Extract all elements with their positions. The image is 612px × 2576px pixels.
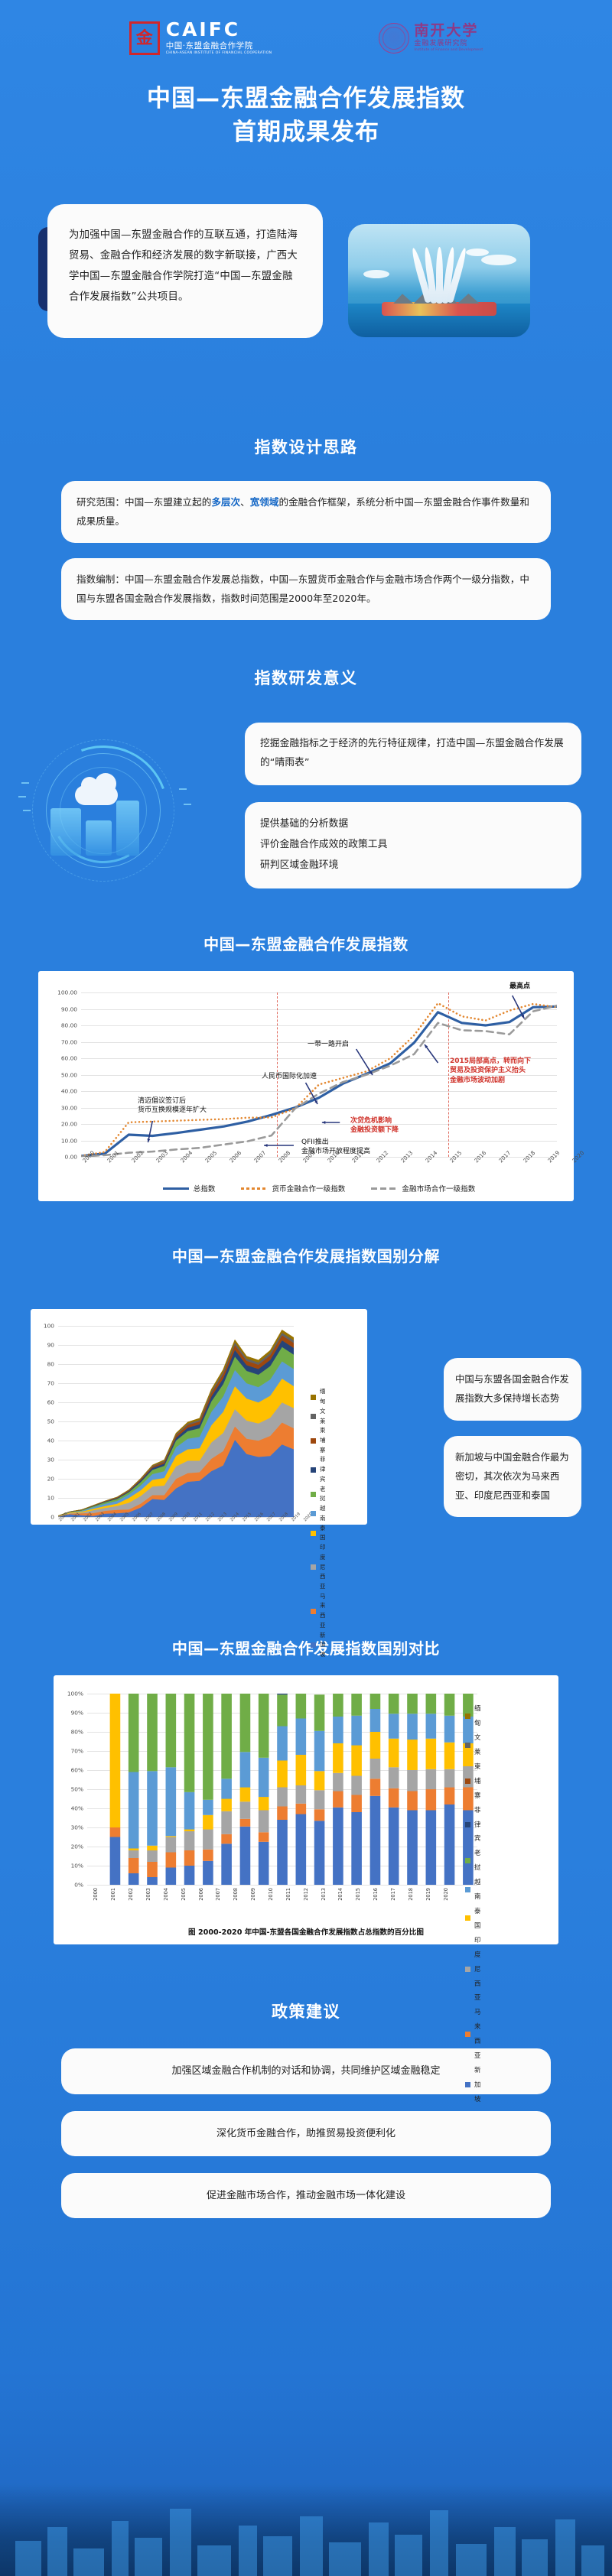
nankai-cn-name: 南开大学	[414, 23, 483, 39]
y-axis-tick: 50.00	[61, 1071, 81, 1078]
y-axis-tick: 10	[47, 1495, 58, 1502]
legend-swatch	[311, 1511, 316, 1516]
legend-swatch	[311, 1492, 316, 1497]
x-axis-tick: 2020	[443, 1888, 449, 1901]
y-axis-tick: 0	[50, 1514, 58, 1521]
x-axis-tick: 2006	[198, 1888, 204, 1901]
footer-skyline	[0, 2484, 612, 2576]
y-axis-tick: 0%	[74, 1882, 87, 1889]
design-card-compilation: 指数编制：中国—东盟金融合作发展总指数，中国—东盟货币金融合作与金融市场合作两个…	[61, 558, 551, 620]
chart-annotation: 最高点	[509, 982, 530, 991]
legend-item: 缅甸	[311, 1387, 325, 1406]
caifc-en-name: CHINA-ASEAN INSTITUTE OF FINANCIAL COOPE…	[166, 52, 272, 56]
y-axis-tick: 70	[47, 1380, 58, 1387]
x-axis-tick: 2015	[355, 1888, 361, 1901]
y-axis-tick: 40.00	[61, 1088, 81, 1095]
y-axis-tick: 100.00	[57, 989, 81, 996]
y-axis-tick: 70.00	[61, 1038, 81, 1045]
legend-item: 新加坡	[311, 1631, 325, 1660]
legend-item-market: 金融市场合作一级指数	[371, 1183, 475, 1194]
x-axis-tick: 2013	[321, 1888, 327, 1901]
y-axis-tick: 30	[47, 1457, 58, 1463]
y-axis-tick: 0.00	[65, 1154, 81, 1161]
y-axis-tick: 10.00	[61, 1137, 81, 1144]
design-card-scope: 研究范围：中国—东盟建立起的多层次、宽领域的金融合作框架，系统分析中国—东盟金融…	[61, 481, 551, 543]
legend-item: 柬埔寨	[465, 1759, 480, 1803]
bar-chart-svg	[87, 1694, 477, 1885]
legend-item: 马来西亚	[311, 1592, 325, 1631]
legend-swatch	[465, 1887, 470, 1892]
x-axis-tick: 2008	[233, 1888, 239, 1901]
legend-label: 菲律宾	[320, 1455, 325, 1484]
legend-swatch	[311, 1414, 316, 1419]
legend-swatch	[465, 1779, 470, 1784]
infographic-page: 金 CAIFC 中国·东盟金融合作学院 CHINA-ASEAN INSTITUT…	[0, 0, 612, 2576]
y-axis-tick: 60	[47, 1399, 58, 1406]
meaning-use-item: 提供基础的分析数据	[260, 814, 566, 835]
legend-item: 老挝	[465, 1846, 480, 1875]
legend-label: 文莱	[320, 1407, 325, 1426]
y-axis-tick: 30%	[71, 1824, 87, 1831]
x-axis-tick: 2019	[425, 1888, 431, 1901]
legend-label: 越南	[474, 1875, 480, 1904]
legend-item: 泰国	[465, 1904, 480, 1933]
scope-mid: 、	[240, 496, 250, 508]
y-axis-tick: 100%	[67, 1691, 87, 1697]
legend-item: 菲律宾	[311, 1455, 325, 1484]
legend-item: 老挝	[311, 1485, 325, 1504]
policy-section: 政策建议 加强区域金融合作机制的对话和协调，共同维护区域金融稳定 深化货币金融合…	[0, 1999, 612, 2363]
legend-swatch	[465, 2032, 470, 2037]
meaning-card-uses: 提供基础的分析数据 评价金融合作成效的政策工具 研判区域金融环境	[245, 802, 581, 888]
title-line-1: 中国—东盟金融合作发展指数	[0, 82, 612, 115]
legend-label: 马来西亚	[320, 1592, 325, 1631]
legend-label: 马来西亚	[474, 2005, 480, 2063]
meaning-section-title: 指数研发意义	[0, 666, 612, 689]
nankai-seal-icon	[379, 23, 409, 54]
y-axis-tick: 20%	[71, 1843, 87, 1850]
cloud-icon	[75, 785, 118, 805]
page-title: 中国—东盟金融合作发展指数 首期成果发布	[0, 82, 612, 149]
nankai-logo: 南开大学 金融发展研究院 Institute of Finance and De…	[379, 23, 483, 54]
legend-swatch-solid	[163, 1187, 189, 1190]
y-axis-tick: 90	[47, 1342, 58, 1349]
y-axis-tick: 50	[47, 1418, 58, 1425]
legend-label: 越南	[320, 1504, 325, 1523]
x-axis-tick: 2020	[571, 1149, 585, 1164]
legend-label: 缅甸	[474, 1701, 480, 1730]
legend-label: 泰国	[474, 1904, 480, 1933]
title-line-2: 首期成果发布	[0, 115, 612, 149]
legend-item: 新加坡	[465, 2063, 480, 2107]
meaning-card-barometer: 挖掘金融指标之于经济的先行特征规律，打造中国—东盟金融合作发展的“晴雨表”	[245, 723, 581, 785]
legend-label: 老挝	[320, 1485, 325, 1504]
y-axis-tick: 40	[47, 1437, 58, 1444]
x-axis-tick: 2018	[408, 1888, 414, 1901]
legend-label: 金融市场合作一级指数	[402, 1183, 475, 1194]
convention-center-icon	[416, 244, 462, 304]
legend-swatch	[311, 1531, 316, 1536]
bar-chart-legend: 缅甸文莱柬埔寨菲律宾老挝越南泰国印度尼西亚马来西亚新加坡	[465, 1701, 480, 2106]
legend-item: 柬埔寨	[311, 1426, 325, 1455]
meaning-card-list: 挖掘金融指标之于经济的先行特征规律，打造中国—东盟金融合作发展的“晴雨表” 提供…	[245, 723, 581, 888]
design-section-title: 指数设计思路	[0, 435, 612, 458]
scope-prefix: 研究范围：中国—东盟建立起的	[76, 496, 211, 508]
line-chart-section: 中国—东盟金融合作发展指数 0.0010.0020.0030.0040.0050…	[0, 932, 612, 1201]
design-section: 指数设计思路 研究范围：中国—东盟建立起的多层次、宽领域的金融合作框架，系统分析…	[0, 435, 612, 620]
legend-swatch	[311, 1395, 316, 1400]
scope-hl-2: 宽领域	[250, 496, 279, 508]
nankai-logo-text: 南开大学 金融发展研究院 Institute of Finance and De…	[414, 23, 483, 53]
gridline	[87, 1885, 477, 1886]
legend-label: 文莱	[474, 1730, 480, 1759]
legend-swatch	[311, 1564, 316, 1570]
x-axis-tick: 2014	[337, 1888, 343, 1901]
legend-item: 越南	[465, 1875, 480, 1904]
legend-swatch	[465, 2082, 470, 2087]
country-card-list: 中国与东盟各国金融合作发展指数大多保持增长态势 新加坡与中国金融合作最为密切，其…	[444, 1358, 581, 1517]
bar-chart-shell: 0%10%20%30%40%50%60%70%80%90%100%2000200…	[54, 1675, 558, 1944]
compare-chart-section: 中国—东盟金融合作发展指数国别对比 0%10%20%30%40%50%60%70…	[0, 1636, 612, 1944]
meaning-use-item: 评价金融合作成效的政策工具	[260, 835, 566, 856]
legend-label: 货币金融合作一级指数	[272, 1183, 345, 1194]
legend-item: 印度尼西亚	[311, 1543, 325, 1592]
line-chart-shell: 0.0010.0020.0030.0040.0050.0060.0070.008…	[38, 971, 574, 1201]
legend-swatch	[465, 1915, 470, 1921]
legend-label: 菲律宾	[474, 1803, 480, 1847]
x-axis-tick: 2000	[93, 1888, 99, 1901]
building-base	[382, 302, 496, 316]
legend-swatch	[311, 1609, 316, 1614]
intro-card: 为加强中国—东盟金融合作的互联互通，打造陆海贸易、金融合作和经济发展的数字新联接…	[47, 204, 323, 338]
intro-section: 为加强中国—东盟金融合作的互联互通，打造陆海贸易、金融合作和经济发展的数字新联接…	[0, 197, 612, 349]
bar-chart-plot: 0%10%20%30%40%50%60%70%80%90%100%2000200…	[87, 1694, 477, 1885]
y-axis-tick: 30.00	[61, 1104, 81, 1111]
intro-text: 为加强中国—东盟金融合作的互联互通，打造陆海贸易、金融合作和经济发展的数字新联接…	[69, 226, 303, 307]
y-axis-tick: 80%	[71, 1729, 87, 1736]
y-axis-tick: 90.00	[61, 1005, 81, 1012]
line-chart-legend: 总指数 货币金融合作一级指数 金融市场合作一级指数	[81, 1183, 557, 1194]
legend-item: 越南	[311, 1504, 325, 1523]
legend-label: 印度尼西亚	[320, 1543, 325, 1592]
y-axis-tick: 90%	[71, 1710, 87, 1717]
logo-row: 金 CAIFC 中国·东盟金融合作学院 CHINA-ASEAN INSTITUT…	[0, 20, 612, 56]
line-chart-title: 中国—东盟金融合作发展指数	[0, 932, 612, 954]
y-axis-tick: 60.00	[61, 1055, 81, 1062]
legend-label: 印度尼西亚	[474, 1933, 480, 2006]
caifc-cn-name: 中国·东盟金融合作学院	[166, 42, 272, 50]
policy-card: 深化货币金融合作，助推贸易投资便利化	[61, 2111, 551, 2156]
legend-swatch	[465, 1858, 470, 1863]
area-chart-plot: 0102030405060708090100200020012002200320…	[58, 1326, 294, 1517]
legend-swatch-dotted	[241, 1187, 267, 1190]
x-axis-tick: 2007	[215, 1888, 221, 1901]
legend-swatch	[311, 1642, 316, 1648]
legend-label: 柬埔寨	[320, 1426, 325, 1455]
y-axis-tick: 50%	[71, 1786, 87, 1793]
caifc-logo: 金 CAIFC 中国·东盟金融合作学院 CHINA-ASEAN INSTITUT…	[129, 20, 272, 56]
legend-item: 菲律宾	[465, 1803, 480, 1847]
legend-swatch	[465, 1714, 470, 1719]
area-chart-shell: 0102030405060708090100200020012002200320…	[31, 1309, 367, 1525]
seal-icon: 金	[129, 21, 160, 55]
x-axis-tick: 2004	[163, 1888, 169, 1901]
meaning-section: 指数研发意义 挖掘金融指标之于经济的先行特征规律，打造中国—东盟金融合作发展的“…	[0, 666, 612, 895]
legend-swatch	[465, 1822, 470, 1827]
legend-label: 新加坡	[320, 1631, 325, 1660]
meaning-body: 挖掘金融指标之于经济的先行特征规律，打造中国—东盟金融合作发展的“晴雨表” 提供…	[0, 715, 612, 895]
x-axis-tick: 2002	[128, 1888, 134, 1901]
country-card-singapore: 新加坡与中国金融合作最为密切，其次依次为马来西亚、印度尼西亚和泰国	[444, 1436, 581, 1517]
policy-section-title: 政策建议	[0, 1999, 612, 2022]
line-chart-plot: 0.0010.0020.0030.0040.0050.0060.0070.008…	[81, 992, 557, 1157]
scope-hl-1: 多层次	[211, 496, 240, 508]
legend-label: 缅甸	[320, 1387, 325, 1406]
legend-item: 印度尼西亚	[465, 1933, 480, 2006]
legend-item: 文莱	[465, 1730, 480, 1759]
legend-label: 柬埔寨	[474, 1759, 480, 1803]
legend-swatch	[311, 1467, 316, 1473]
legend-item: 缅甸	[465, 1701, 480, 1730]
x-axis-tick: 2011	[285, 1888, 291, 1901]
legend-item-money: 货币金融合作一级指数	[241, 1183, 345, 1194]
x-axis-tick: 2005	[181, 1888, 187, 1901]
legend-label: 新加坡	[474, 2063, 480, 2107]
cloud-icon	[481, 255, 516, 265]
legend-item-total: 总指数	[163, 1183, 216, 1194]
policy-card: 促进金融市场合作，推动金融市场一体化建设	[61, 2173, 551, 2218]
country-chart-section: 中国—东盟金融合作发展指数国别分解 0102030405060708090100…	[0, 1244, 612, 1590]
x-axis-tick: 2009	[250, 1888, 256, 1901]
design-card-list: 研究范围：中国—东盟建立起的多层次、宽领域的金融合作框架，系统分析中国—东盟金融…	[61, 481, 551, 620]
y-axis-tick: 20.00	[61, 1121, 81, 1128]
y-axis-tick: 80	[47, 1361, 58, 1368]
legend-item: 马来西亚	[465, 2005, 480, 2063]
country-body: 0102030405060708090100200020012002200320…	[0, 1285, 612, 1590]
y-axis-tick: 80.00	[61, 1022, 81, 1029]
y-axis-tick: 40%	[71, 1805, 87, 1812]
legend-label: 总指数	[194, 1183, 216, 1194]
y-axis-tick: 100	[44, 1323, 58, 1330]
annotation-arrows	[81, 992, 557, 1157]
header: 金 CAIFC 中国·东盟金融合作学院 CHINA-ASEAN INSTITUT…	[0, 0, 612, 149]
x-axis-tick: 2003	[145, 1888, 151, 1901]
x-axis-tick: 2016	[373, 1888, 379, 1901]
meaning-use-item: 研判区域金融环境	[260, 856, 566, 876]
y-axis-tick: 60%	[71, 1767, 87, 1774]
area-chart-legend: 缅甸文莱柬埔寨菲律宾老挝越南泰国印度尼西亚马来西亚新加坡	[311, 1387, 325, 1660]
y-axis-tick: 20	[47, 1476, 58, 1483]
x-axis-tick: 2012	[303, 1888, 309, 1901]
legend-label: 泰国	[320, 1524, 325, 1543]
caifc-acronym: CAIFC	[166, 20, 272, 40]
tech-illustration	[15, 735, 222, 888]
caifc-logo-text: CAIFC 中国·东盟金融合作学院 CHINA-ASEAN INSTITUTE …	[166, 20, 272, 56]
country-chart-title: 中国—东盟金融合作发展指数国别分解	[0, 1244, 612, 1266]
legend-swatch-dashed	[371, 1187, 397, 1190]
country-card-growth: 中国与东盟各国金融合作发展指数大多保持增长态势	[444, 1358, 581, 1421]
y-axis-tick: 10%	[71, 1863, 87, 1869]
legend-swatch	[465, 1967, 470, 1972]
gridline	[81, 1157, 557, 1158]
y-axis-tick: 70%	[71, 1748, 87, 1755]
area-chart-svg	[58, 1326, 294, 1517]
legend-label: 老挝	[474, 1846, 480, 1875]
compare-chart-title: 中国—东盟金融合作发展指数国别对比	[0, 1636, 612, 1658]
legend-swatch	[311, 1438, 316, 1444]
x-axis-tick: 2001	[110, 1888, 116, 1901]
legend-item: 文莱	[311, 1407, 325, 1426]
legend-swatch	[465, 1743, 470, 1748]
x-axis-tick: 2010	[268, 1888, 274, 1901]
nankai-en-name: Institute of Finance and Development	[414, 49, 483, 53]
intro-photo	[348, 224, 530, 337]
legend-item: 泰国	[311, 1524, 325, 1543]
nankai-institute: 金融发展研究院	[414, 41, 483, 48]
x-axis-tick: 2017	[390, 1888, 396, 1901]
